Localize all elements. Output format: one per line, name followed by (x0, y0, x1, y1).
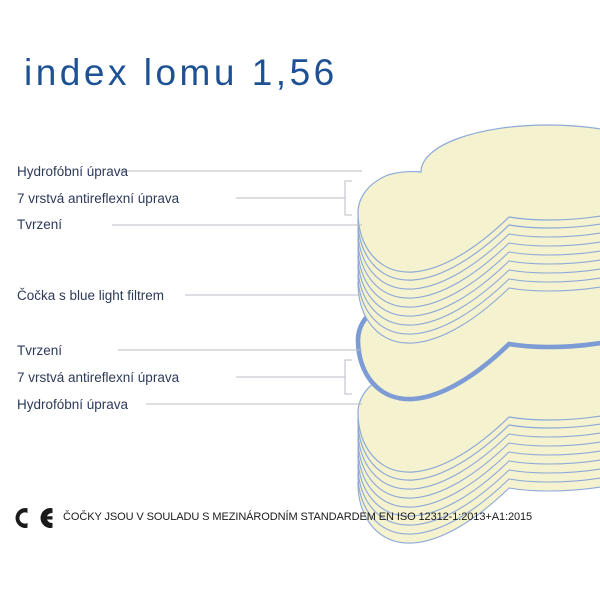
label-bottom-hardening: Tvrzení (17, 344, 62, 358)
lens-spec-diagram-page: index lomu 1,56 (0, 0, 600, 600)
compliance-row: ČOČKY JSOU V SOULADU S MEZINÁRODNÍM STAN… (0, 498, 600, 538)
ce-mark-icon (10, 505, 54, 531)
label-bottom-hydrophobic: Hydrofóbní úprava (17, 398, 128, 412)
label-blue-light-filter-lens: Čočka s blue light filtrem (17, 289, 164, 303)
label-top-hydrophobic: Hydrofóbní úprava (17, 165, 128, 179)
bracket-bottom (345, 360, 352, 394)
bracket-top (345, 181, 352, 215)
label-top-antireflective: 7 vrstvá antireflexní úprava (17, 192, 179, 206)
compliance-text: ČOČKY JSOU V SOULADU S MEZINÁRODNÍM STAN… (63, 512, 532, 523)
label-bottom-antireflective: 7 vrstvá antireflexní úprava (17, 371, 179, 385)
label-top-hardening: Tvrzení (17, 218, 62, 232)
